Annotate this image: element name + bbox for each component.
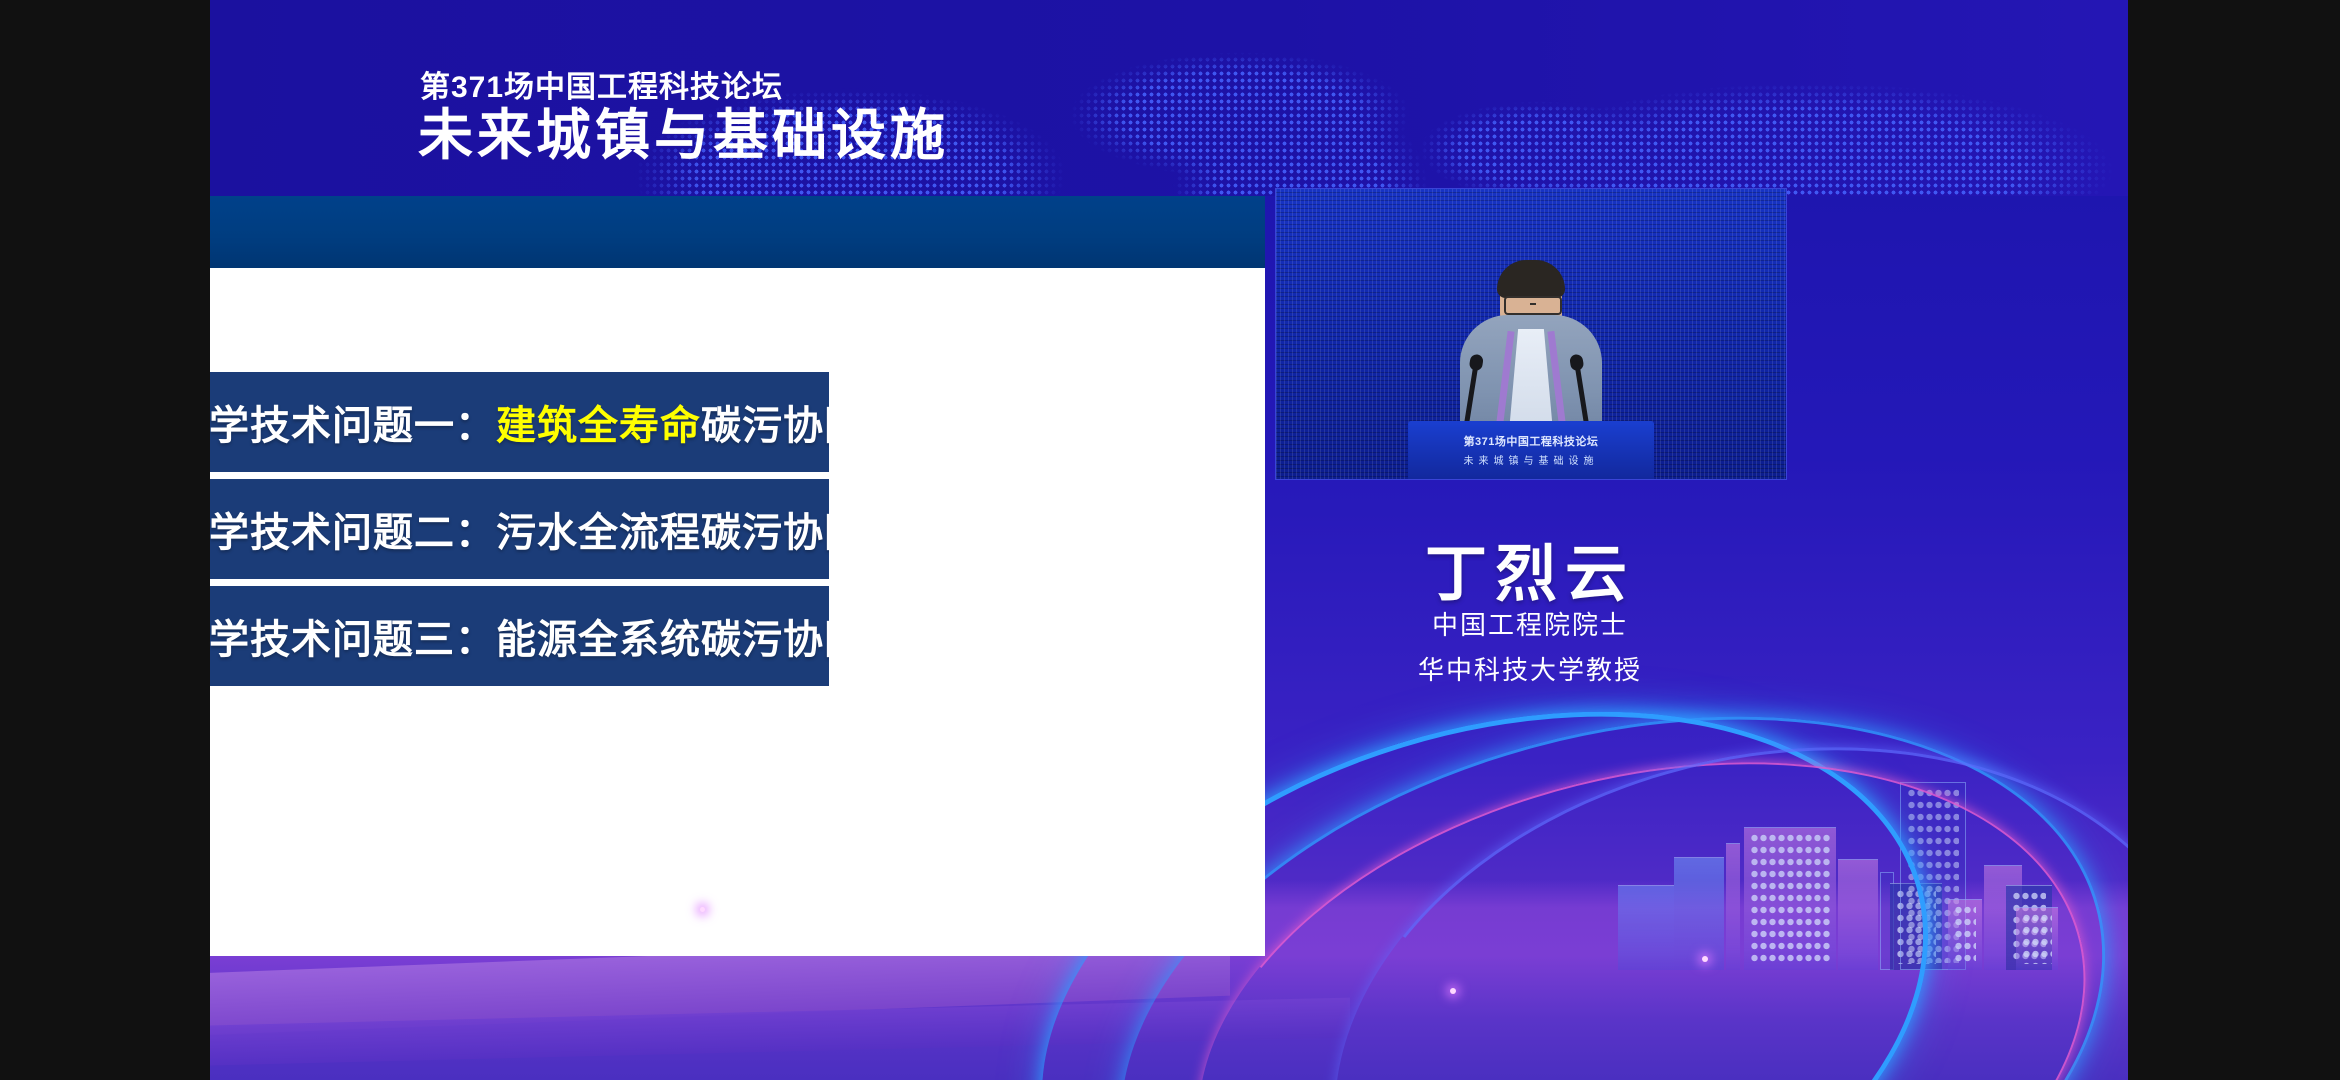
presentation-slide: 科学技术问题一：建筑全寿命碳污协同管控和优化 <box>210 268 1265 956</box>
slide-item-1[interactable]: 科学技术问题一：建筑全寿命碳污协同管控和优化 <box>210 372 1265 472</box>
letterbox-left <box>0 0 210 1080</box>
stage-light-spark <box>1702 956 1708 962</box>
glasses-icon <box>1504 296 1562 315</box>
slide-item-2[interactable]: 科学技术问题二：污水全流程碳污协同管控和优化 <box>210 479 1265 579</box>
letterbox-right <box>2128 0 2340 1080</box>
speaker-title-line-1: 中国工程院院士 <box>1275 605 1785 642</box>
slide-top-band <box>210 196 1265 270</box>
stage-light-spark <box>1450 988 1456 994</box>
screen-capture: 第371场中国工程科技论坛 未来城镇与基础设施 <box>0 0 2340 1080</box>
podium-line-1: 第371场中国工程科技论坛 <box>1464 433 1599 449</box>
podium-sign: 第371场中国工程科技论坛 未来城镇与基础设施 <box>1408 421 1654 479</box>
speaker-name: 丁烈云 <box>1275 523 1785 613</box>
slide-item-3[interactable]: 科学技术问题三：能源全系统碳污协同管控和优化 <box>210 586 1265 686</box>
science-question-label-1: 科学技术问题一：建筑全寿命碳污协同管控和优化 <box>210 393 1070 451</box>
broadcast-frame: 第371场中国工程科技论坛 未来城镇与基础设施 <box>210 0 2128 1080</box>
science-question-bar-3[interactable]: 科学技术问题三：能源全系统碳污协同管控和优化 <box>210 586 829 686</box>
science-question-label-2: 科学技术问题二：污水全流程碳污协同管控和优化 <box>210 500 1070 558</box>
science-question-bar-1[interactable]: 科学技术问题一：建筑全寿命碳污协同管控和优化 <box>210 372 829 472</box>
stage-light-spark <box>700 907 705 912</box>
forum-subtitle: 第371场中国工程科技论坛 <box>420 62 783 106</box>
podium-line-2: 未来城镇与基础设施 <box>1464 452 1599 467</box>
science-question-label-3: 科学技术问题三：能源全系统碳污协同管控和优化 <box>210 607 1070 665</box>
speaker-video-thumbnail[interactable]: 第371场中国工程科技论坛 未来城镇与基础设施 <box>1275 188 1787 480</box>
forum-title: 未来城镇与基础设施 <box>418 108 949 163</box>
speaker-title-line-2: 华中科技大学教授 <box>1275 650 1785 687</box>
science-question-bar-2[interactable]: 科学技术问题二：污水全流程碳污协同管控和优化 <box>210 479 829 579</box>
